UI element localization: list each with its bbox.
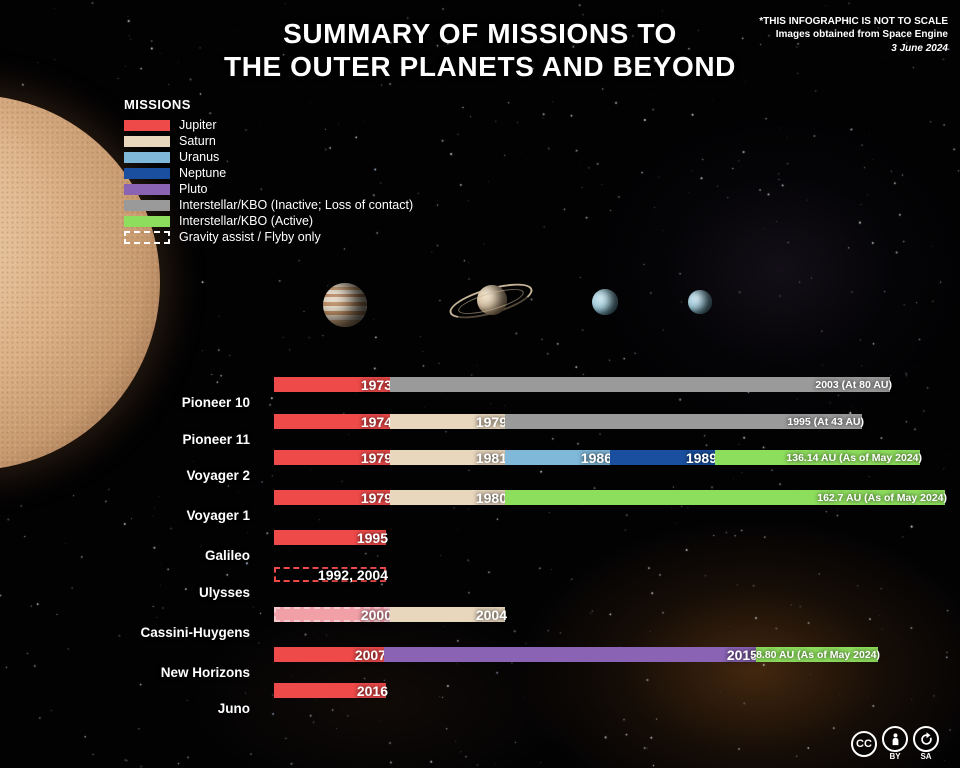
table-row: Juno2016 xyxy=(0,683,960,721)
timeline-segment xyxy=(384,647,756,662)
mission-name-label: Pioneer 10 xyxy=(0,395,250,410)
license-by: BY xyxy=(882,726,908,761)
license-badge: CC BY SA xyxy=(851,726,939,761)
segment-year-label: 2016 xyxy=(357,683,388,699)
mission-name-label: New Horizons xyxy=(0,665,250,680)
segment-year-label: 1981 xyxy=(476,450,507,466)
mission-name-label: Ulysses xyxy=(0,585,250,600)
segment-year-label: 2007 xyxy=(355,647,386,663)
segment-year-label: 1989 xyxy=(686,450,717,466)
table-row: Pioneer 1019732003 (At 80 AU) xyxy=(0,377,960,415)
mission-name-label: Juno xyxy=(0,701,250,716)
license-sa: SA xyxy=(913,726,939,761)
mission-distance-label: 162.7 AU (As of May 2024) xyxy=(817,492,947,504)
segment-year-label: 2000 xyxy=(361,607,392,623)
table-row: Ulysses1992, 2004 xyxy=(0,567,960,605)
segment-year-label: 1979 xyxy=(476,414,507,430)
mission-name-label: Voyager 1 xyxy=(0,508,250,523)
table-row: Pioneer 11197419791995 (At 43 AU) xyxy=(0,414,960,452)
segment-year-label: 1974 xyxy=(361,414,392,430)
segment-year-label: 2004 xyxy=(476,607,507,623)
creative-commons-icon: CC xyxy=(851,731,877,757)
mission-distance-label: 58.80 AU (As of May 2024) xyxy=(750,649,880,661)
table-row: Galileo1995 xyxy=(0,530,960,568)
mission-distance-label: 1995 (At 43 AU) xyxy=(787,416,864,428)
share-alike-icon xyxy=(913,726,939,752)
mission-name-label: Pioneer 11 xyxy=(0,432,250,447)
table-row: Voyager 119791980162.7 AU (As of May 202… xyxy=(0,490,960,528)
infographic-canvas: SUMMARY OF MISSIONS TO THE OUTER PLANETS… xyxy=(0,0,960,768)
mission-distance-label: 136.14 AU (As of May 2024) xyxy=(786,452,922,464)
segment-year-label: 1992, 2004 xyxy=(318,567,388,583)
table-row: New Horizons2007201558.80 AU (As of May … xyxy=(0,647,960,685)
mission-name-label: Cassini-Huygens xyxy=(0,625,250,640)
mission-distance-label: 2003 (At 80 AU) xyxy=(815,379,892,391)
mission-name-label: Voyager 2 xyxy=(0,468,250,483)
segment-year-label: 1979 xyxy=(361,450,392,466)
segment-year-label: 1973 xyxy=(361,377,392,393)
segment-year-label: 1979 xyxy=(361,490,392,506)
table-row: Voyager 21979198119861989136.14 AU (As o… xyxy=(0,450,960,488)
segment-year-label: 1995 xyxy=(357,530,388,546)
mission-name-label: Galileo xyxy=(0,548,250,563)
license-sa-label: SA xyxy=(920,752,931,761)
table-row: Cassini-Huygens20002004 xyxy=(0,607,960,645)
license-by-label: BY xyxy=(889,752,900,761)
mission-timeline: Pioneer 1019732003 (At 80 AU)Pioneer 111… xyxy=(0,0,960,768)
segment-year-label: 1986 xyxy=(581,450,612,466)
person-icon xyxy=(882,726,908,752)
segment-year-label: 1980 xyxy=(476,490,507,506)
